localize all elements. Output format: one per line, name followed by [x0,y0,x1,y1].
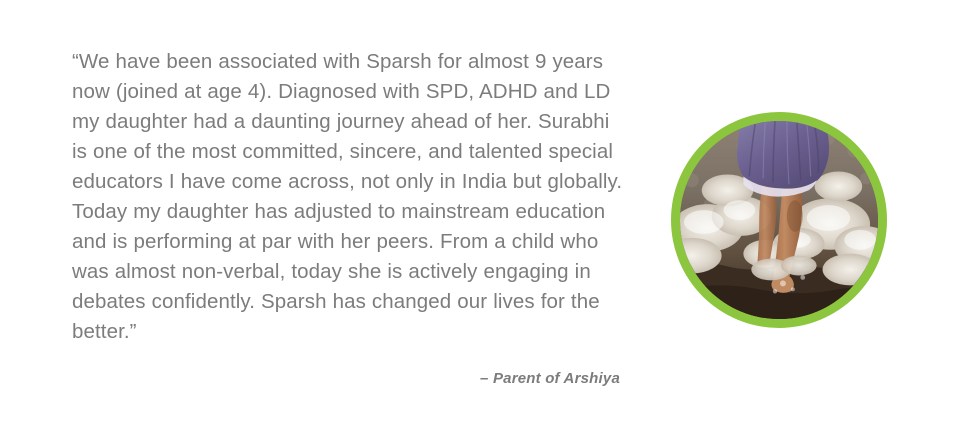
testimonial-card: “We have been associated with Sparsh for… [0,0,960,445]
testimonial-photo-ring [671,112,887,328]
testimonial-quote-text: “We have been associated with Sparsh for… [72,47,624,347]
testimonial-photo [680,121,878,319]
beach-walk-photo-illustration [680,121,878,319]
testimonial-attribution: – Parent of Arshiya [72,368,620,390]
quote-block: “We have been associated with Sparsh for… [72,47,624,347]
